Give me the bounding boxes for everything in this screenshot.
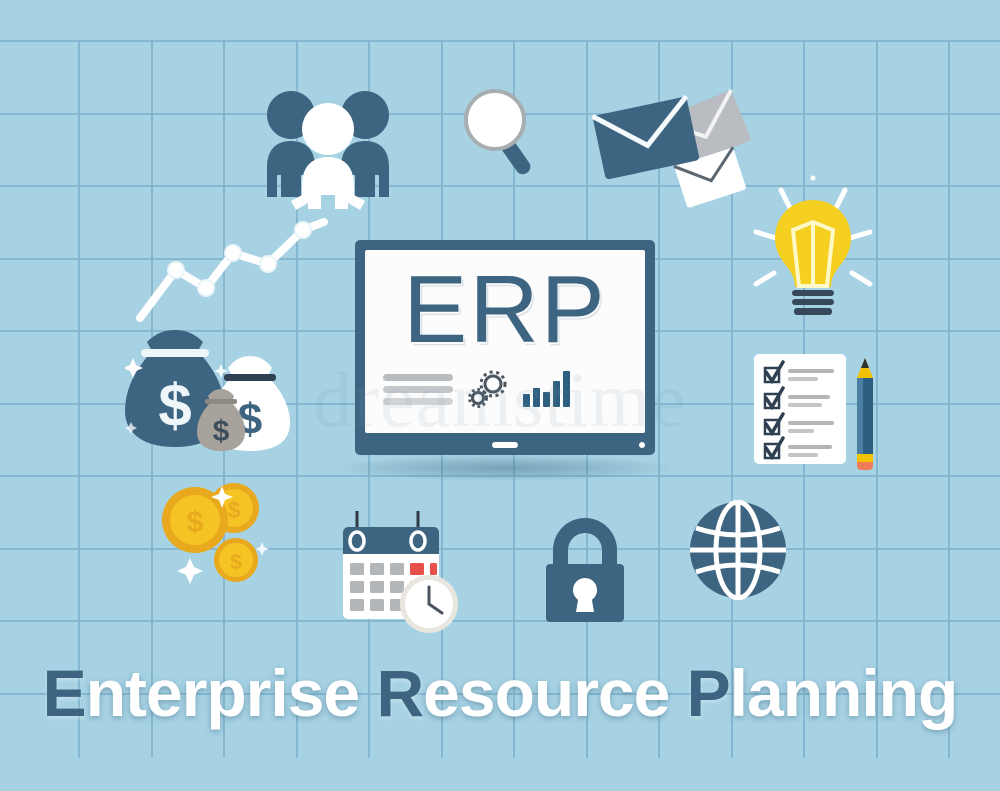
bar [563,371,570,407]
grid-hline [0,620,1000,622]
text-lines-icon [383,374,453,411]
screen-widgets [383,365,631,411]
monitor-power-indicator [639,442,645,448]
grid-vline [948,40,950,758]
svg-text:$: $ [228,497,241,523]
bar-chart-icon [523,365,570,411]
gears-icon [465,369,511,411]
title-capital: P [687,656,730,730]
svg-text:$: $ [187,506,204,539]
grid-hline [0,548,1000,550]
title-text: esource [423,656,686,730]
globe-icon [688,500,788,600]
monitor-shadow [335,455,675,481]
monitor-screen: ERP [365,250,645,433]
svg-text:$: $ [213,415,230,448]
magnifier-icon [455,85,555,185]
line-chart-icon [128,218,338,328]
title-text: lanning [730,656,958,730]
bar [553,381,560,407]
title-capital: E [43,656,86,730]
calendar-clock-icon [325,505,470,640]
bar [543,392,550,407]
people-group-icon [258,85,398,210]
bar [533,388,540,407]
envelopes-icon [592,88,757,208]
title-text: nterprise [86,656,377,730]
grid-vline [78,40,80,758]
coins-icon: $ $ $ [152,482,287,597]
erp-label: ERP [365,262,645,358]
svg-text:$: $ [230,551,242,574]
page-title: Enterprise Resource Planning [0,655,1000,731]
lightbulb-icon [748,172,878,337]
title-capital: R [376,656,423,730]
svg-text:$: $ [158,372,191,439]
pencil-icon [852,356,878,471]
monitor: ERP [355,240,655,455]
money-bags-icon: $ $ $ [125,330,295,465]
grid-hline [0,40,1000,42]
padlock-icon [536,512,634,622]
checklist-icon [750,352,850,467]
monitor-home-button[interactable] [492,442,518,448]
illustration-canvas: $ $ $ $ $ $ [0,0,1000,791]
bar [523,394,530,407]
